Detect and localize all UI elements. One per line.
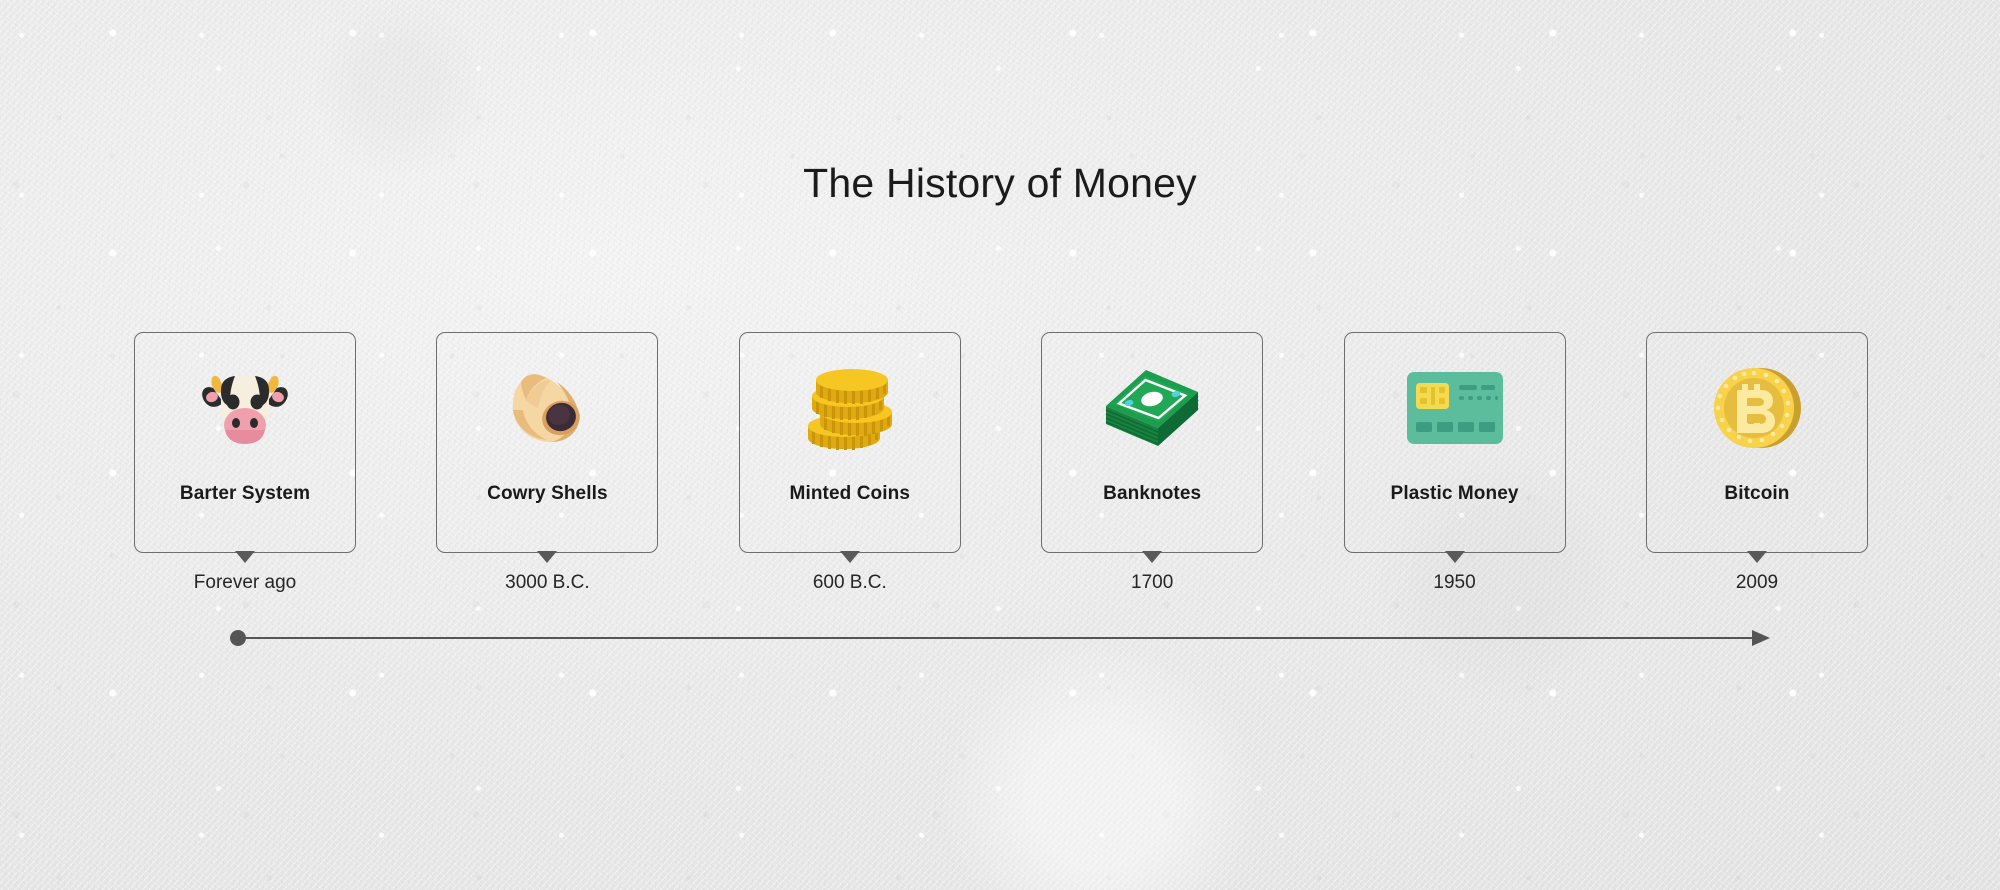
timeline-arrow-icon bbox=[1752, 630, 1770, 646]
card-pointer-triangle bbox=[840, 551, 860, 563]
timeline-axis-line bbox=[240, 637, 1752, 639]
timeline-card[interactable]: Cowry Shells bbox=[436, 332, 658, 553]
timeline-item-cowry-shells[interactable]: Cowry Shells 3000 B.C. bbox=[436, 332, 658, 553]
card-pointer-triangle bbox=[1445, 551, 1465, 563]
icon-slot bbox=[437, 333, 657, 483]
icon-slot bbox=[1042, 333, 1262, 483]
icon-slot bbox=[1345, 333, 1565, 483]
card-pointer-triangle bbox=[1747, 551, 1767, 563]
timeline-item-label: Barter System bbox=[135, 483, 355, 505]
card-pointer-triangle bbox=[537, 551, 557, 563]
timeline-axis bbox=[230, 627, 1770, 649]
timeline-item-date: 2009 bbox=[1646, 572, 1868, 594]
timeline-card[interactable]: Minted Coins bbox=[739, 332, 961, 553]
timeline-item-date: Forever ago bbox=[134, 572, 356, 594]
timeline-item-date: 3000 B.C. bbox=[436, 572, 658, 594]
timeline-card[interactable]: Barter System bbox=[134, 332, 356, 553]
timeline-item-date: 1950 bbox=[1344, 572, 1566, 594]
timeline-item-label: Bitcoin bbox=[1647, 483, 1867, 505]
timeline-item-label: Plastic Money bbox=[1345, 483, 1565, 505]
timeline-item-label: Banknotes bbox=[1042, 483, 1262, 505]
bitcoin-coin-icon bbox=[1711, 362, 1803, 454]
timeline-card[interactable]: Bitcoin bbox=[1646, 332, 1868, 553]
timeline-item-label: Cowry Shells bbox=[437, 483, 657, 505]
timeline-item-banknotes[interactable]: Banknotes 1700 bbox=[1041, 332, 1263, 553]
timeline-item-label: Minted Coins bbox=[740, 483, 960, 505]
timeline-item-minted-coins[interactable]: Minted Coins 600 B.C. bbox=[739, 332, 961, 553]
timeline-card[interactable]: Plastic Money bbox=[1344, 332, 1566, 553]
page-title: The History of Money bbox=[0, 160, 2000, 207]
cow-face-icon bbox=[197, 360, 293, 456]
timeline-card-row: Barter System Forever ago Cowry Shells bbox=[134, 332, 1868, 553]
icon-slot bbox=[135, 333, 355, 483]
seashell-icon bbox=[499, 360, 595, 456]
timeline-item-date: 1700 bbox=[1041, 572, 1263, 594]
timeline-card[interactable]: Banknotes bbox=[1041, 332, 1263, 553]
timeline-item-barter-system[interactable]: Barter System Forever ago bbox=[134, 332, 356, 553]
coin-stack-icon bbox=[800, 360, 900, 456]
card-pointer-triangle bbox=[1142, 551, 1162, 563]
timeline-item-bitcoin[interactable]: Bitcoin 2009 bbox=[1646, 332, 1868, 553]
banknote-stack-icon bbox=[1100, 362, 1204, 454]
credit-card-icon bbox=[1407, 372, 1503, 444]
icon-slot bbox=[1647, 333, 1867, 483]
icon-slot bbox=[740, 333, 960, 483]
timeline-item-plastic-money[interactable]: Plastic Money 1950 bbox=[1344, 332, 1566, 553]
card-pointer-triangle bbox=[235, 551, 255, 563]
timeline-item-date: 600 B.C. bbox=[739, 572, 961, 594]
